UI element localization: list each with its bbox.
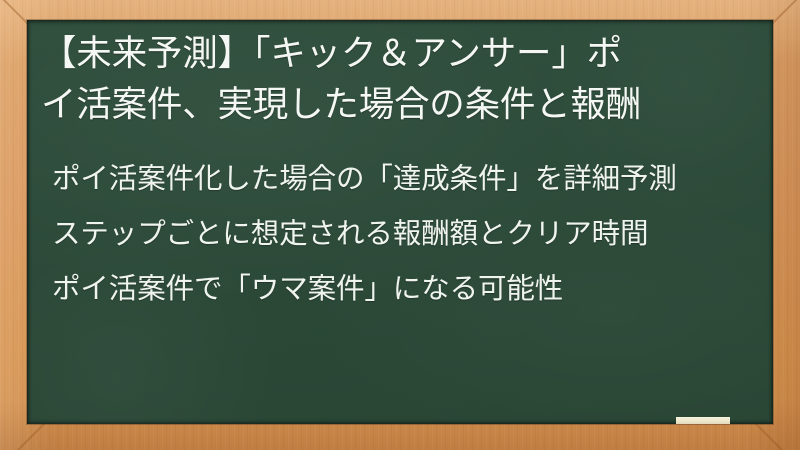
page-title-line-2: イ活案件、実現した場合の条件と報酬 — [41, 79, 765, 130]
chalk-stick-icon — [676, 417, 730, 424]
list-item: ポイ活案件化した場合の「達成条件」を詳細予測 — [27, 151, 773, 206]
list-item: ステップごとに想定される報酬額とクリア時間 — [27, 206, 773, 261]
bullet-list: ポイ活案件化した場合の「達成条件」を詳細予測 ステップごとに想定される報酬額とク… — [27, 130, 773, 316]
board-content: 【未来予測】「キック＆アンサー」ポ イ活案件、実現した場合の条件と報酬 ポイ活案… — [27, 20, 773, 316]
page-title-line-1: 【未来予測】「キック＆アンサー」ポ — [41, 28, 765, 79]
list-item: ポイ活案件で「ウマ案件」になる可能性 — [27, 261, 773, 316]
chalkboard-surface: 【未来予測】「キック＆アンサー」ポ イ活案件、実現した場合の条件と報酬 ポイ活案… — [27, 20, 773, 424]
blackboard-frame: 【未来予測】「キック＆アンサー」ポ イ活案件、実現した場合の条件と報酬 ポイ活案… — [0, 0, 800, 450]
page-title: 【未来予測】「キック＆アンサー」ポ イ活案件、実現した場合の条件と報酬 — [27, 20, 773, 130]
